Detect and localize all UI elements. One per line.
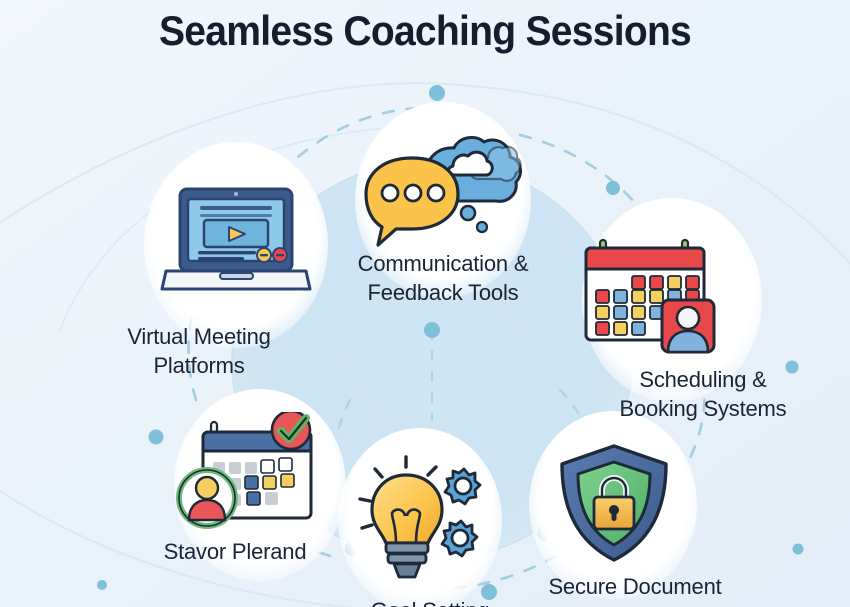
calendar-person-icon — [578, 228, 743, 358]
calendar-check-avatar-icon — [175, 412, 335, 537]
label-scheduling-booking-systems: Scheduling & Booking Systems — [578, 365, 828, 423]
person-badge — [662, 300, 714, 352]
label-goal-setting: Goal Setting — [305, 596, 555, 607]
gear-upper — [445, 469, 480, 504]
label-stavor-plerand: Stavor Plerand — [110, 537, 360, 566]
speech-bubble-cloud-icon — [358, 128, 528, 258]
speech-bubble — [366, 158, 458, 245]
avatar-ring — [179, 470, 235, 526]
label-communication-feedback-tools: Communication & Feedback Tools — [318, 249, 568, 307]
page-title: Seamless Coaching Sessions — [30, 6, 821, 56]
label-virtual-meeting-platforms: Virtual Meeting Platforms — [74, 322, 324, 380]
lightbulb-gears-icon — [358, 455, 493, 595]
shield-lock-icon — [550, 440, 678, 568]
infographic-canvas: Essential Tools for Seamless Coaching Se… — [0, 0, 850, 607]
laptop-video-icon — [160, 185, 315, 305]
check-badge — [272, 412, 310, 449]
gear-lower — [442, 521, 477, 556]
